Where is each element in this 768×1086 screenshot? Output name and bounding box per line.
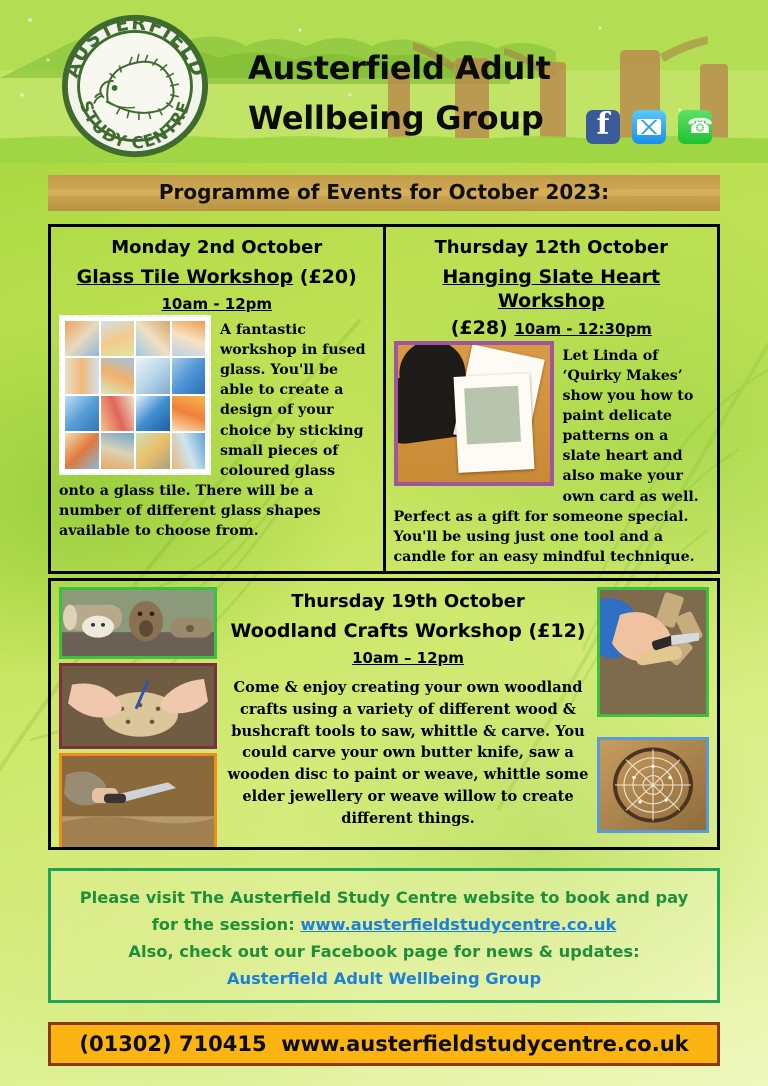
carving-butter-knife-photo [597, 587, 709, 717]
footer-text: (01302) 710415 www.austerfieldstudycentr… [79, 1032, 688, 1056]
carved-log-creatures-photo [59, 587, 217, 659]
header-banner: AUSTERFIELD STUDY CENTRE [0, 0, 768, 163]
willow-dreamcatcher-photo [597, 737, 709, 833]
booking-line-2: for the session: www.austerfieldstudycen… [51, 912, 717, 939]
greeting-card-front [453, 373, 534, 473]
event-price-time-row: (£28) 10am - 12:30pm [394, 317, 710, 339]
event-date: Thursday 12th October [394, 237, 710, 258]
booking-line-3: Also, check out our Facebook page for ne… [51, 939, 717, 966]
email-icon[interactable] [632, 110, 666, 144]
card-pattern [464, 385, 521, 444]
title-line-1: Austerfield Adult [248, 44, 578, 94]
event-price: (£12) [528, 620, 585, 642]
event-card-slate-heart: Thursday 12th October Hanging Slate Hear… [386, 227, 718, 571]
event-price: (£28) [451, 317, 508, 339]
event-panels-top: Monday 2nd October Glass Tile Workshop (… [48, 224, 720, 574]
booking-line-2-prefix: for the session: [152, 915, 295, 934]
collage-grid [65, 321, 205, 469]
social-links: ☎ [586, 110, 712, 144]
phone-icon[interactable]: ☎ [678, 110, 712, 144]
title-line-2: Wellbeing Group [248, 94, 578, 144]
austerfield-study-centre-logo: AUSTERFIELD STUDY CENTRE [57, 12, 213, 160]
woodland-text-block: Thursday 19th October Woodland Crafts Wo… [227, 587, 589, 830]
event-title-row: Woodland Crafts Workshop (£12) [227, 620, 589, 644]
event-date: Thursday 19th October [227, 591, 589, 612]
footer-contact-bar: (01302) 710415 www.austerfieldstudycentr… [48, 1022, 720, 1066]
glass-tiles-collage-image [59, 315, 211, 475]
event-title: Glass Tile Workshop [77, 266, 293, 288]
woodland-images-left [59, 587, 217, 850]
event-title-row: Glass Tile Workshop (£20) [59, 266, 375, 290]
slate-heart-photo [394, 341, 554, 486]
event-title: Woodland Crafts Workshop [231, 620, 522, 642]
page-title: Austerfield Adult Wellbeing Group [248, 44, 578, 143]
facebook-icon[interactable] [586, 110, 620, 144]
booking-website-link[interactable]: www.austerfieldstudycentre.co.uk [300, 915, 616, 934]
event-card-glass-tile: Monday 2nd October Glass Tile Workshop (… [51, 227, 383, 571]
programme-bar: Programme of Events for October 2023: [48, 175, 720, 211]
event-description: Come & enjoy creating your own woodland … [227, 677, 589, 830]
event-time: 10am - 12:30pm [514, 320, 651, 338]
footer-phone[interactable]: (01302) 710415 [79, 1032, 266, 1056]
event-time: 10am - 12pm [59, 295, 375, 313]
event-title: Hanging Slate Heart Workshop [442, 266, 660, 312]
event-card-woodland-crafts: Thursday 19th October Woodland Crafts Wo… [48, 578, 720, 850]
whittling-with-knife-photo [59, 753, 217, 850]
event-date: Monday 2nd October [59, 237, 375, 258]
poster-root: AUSTERFIELD STUDY CENTRE [0, 0, 768, 1086]
woodland-images-right [597, 587, 709, 833]
event-title-row: Hanging Slate Heart Workshop [394, 266, 710, 314]
event-price: (£20) [300, 266, 357, 288]
facebook-page-name[interactable]: Austerfield Adult Wellbeing Group [51, 966, 717, 993]
booking-line-1: Please visit The Austerfield Study Centr… [51, 885, 717, 912]
footer-website[interactable]: www.austerfieldstudycentre.co.uk [281, 1032, 688, 1056]
booking-info-box: Please visit The Austerfield Study Centr… [48, 868, 720, 1003]
making-wooden-disc-photo [59, 663, 217, 749]
event-time: 10am – 12pm [227, 649, 589, 667]
programme-title: Programme of Events for October 2023: [48, 180, 720, 204]
